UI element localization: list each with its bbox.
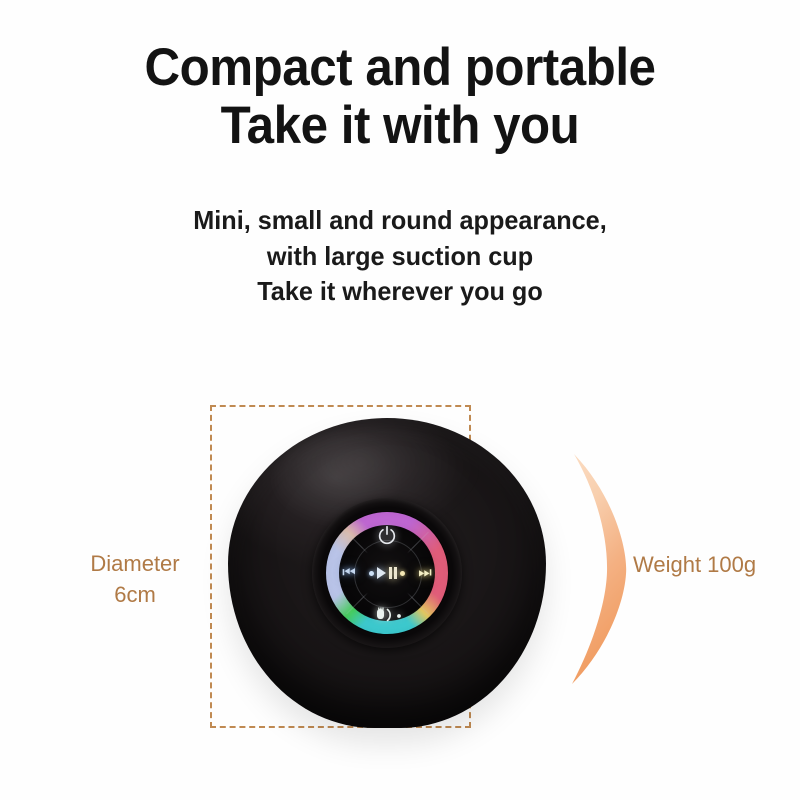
subcopy-block: Mini, small and round appearance, with l…: [12, 203, 788, 310]
weight-label: Weight 100g: [633, 552, 756, 578]
headline-line-1: Compact and portable: [28, 40, 772, 96]
play-triangle-icon: [377, 567, 386, 579]
subcopy-line-3: Take it wherever you go: [12, 274, 788, 310]
weight-arc-decoration: [558, 448, 638, 688]
bluetooth-speaker-product: ⏮ ⏭: [228, 418, 546, 728]
headline-line-2: Take it with you: [28, 98, 772, 154]
diameter-value-text: 6cm: [60, 579, 210, 610]
play-pause-icon[interactable]: [356, 565, 418, 581]
play-pause-dot-right: [400, 571, 405, 576]
headline-block: Compact and portable Take it with you: [0, 40, 800, 154]
product-feature-page: Compact and portable Take it with you Mi…: [0, 0, 800, 800]
next-track-icon[interactable]: ⏭: [413, 565, 437, 581]
power-icon[interactable]: [376, 524, 398, 546]
microphone-call-icon[interactable]: [365, 605, 409, 625]
diameter-label-text: Diameter: [60, 548, 210, 579]
control-icons-layer: ⏮ ⏭: [325, 511, 449, 635]
subcopy-line-1: Mini, small and round appearance,: [12, 203, 788, 239]
pause-bars-icon: [389, 567, 397, 579]
speaker-control-panel: ⏮ ⏭: [325, 511, 449, 635]
subcopy-line-2: with large suction cup: [12, 239, 788, 275]
play-pause-dot-left: [369, 571, 374, 576]
diameter-label: Diameter 6cm: [60, 548, 210, 610]
